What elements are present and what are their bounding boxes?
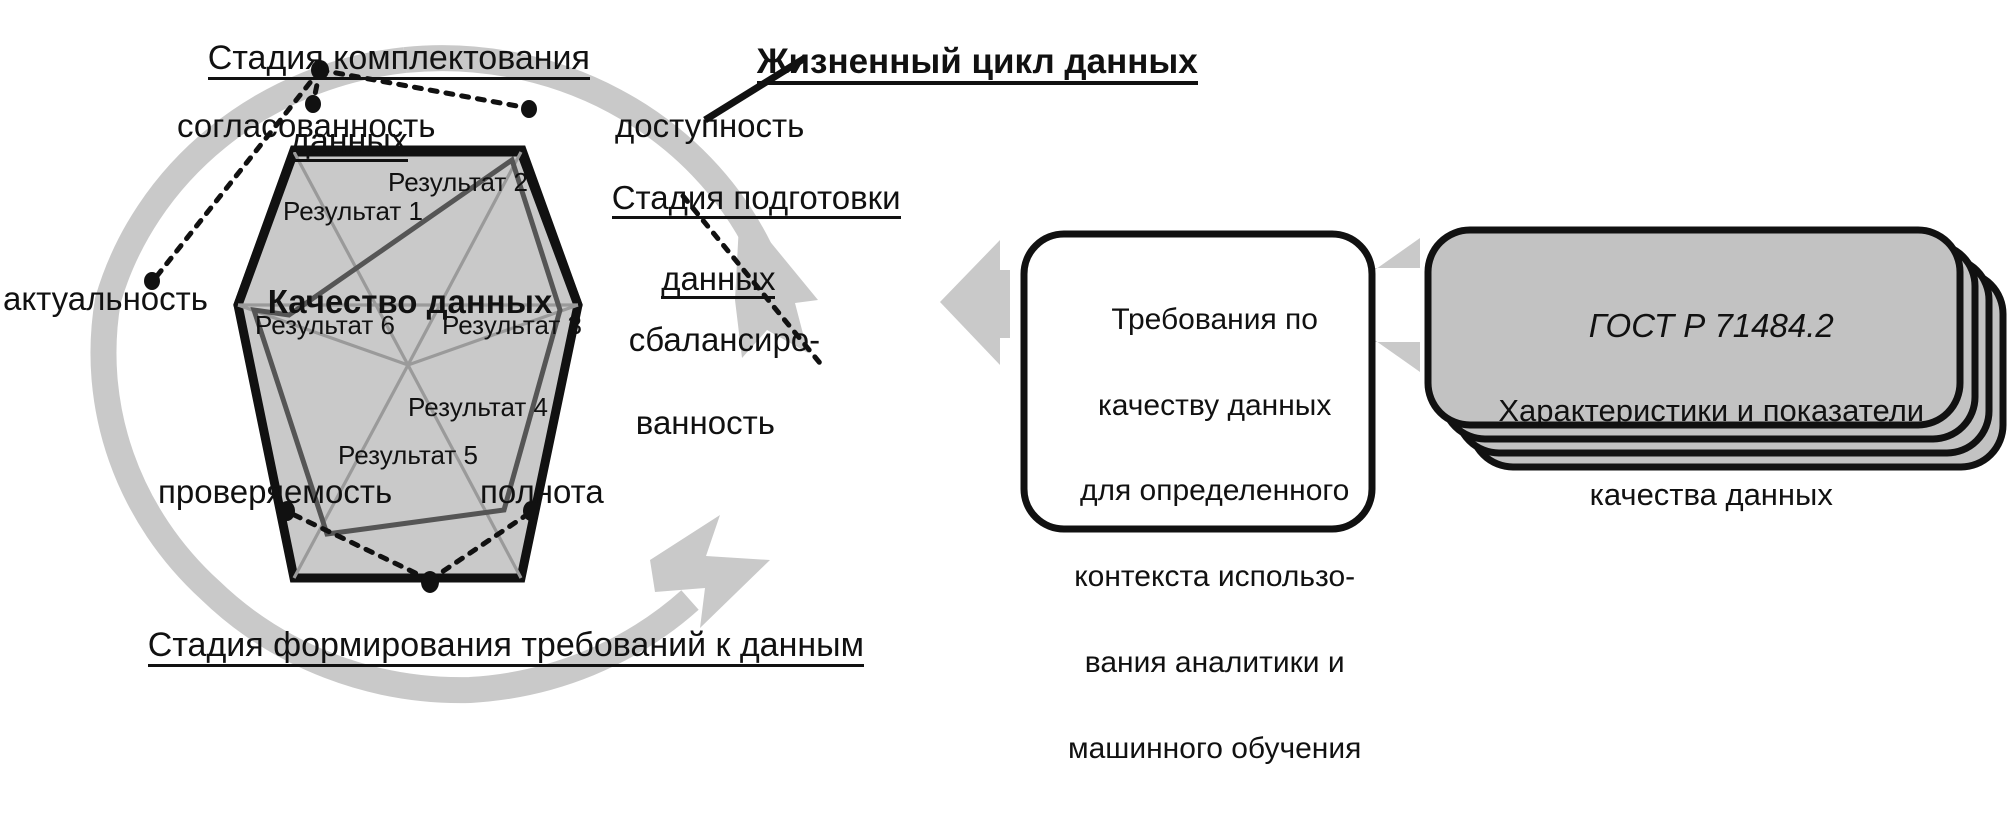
result-3-label: Результат 3 (442, 310, 582, 341)
standard-box-text: ГОСТ Р 71484.2 Характеристики и показате… (1436, 262, 1952, 558)
arrow-requirements-to-balance-shaft (978, 270, 1010, 338)
attr-consistency: согласованность (177, 107, 436, 145)
result-6-label: Результат 6 (255, 310, 395, 341)
stage-acquisition-line1: Стадия комплектования (208, 40, 590, 80)
attr-balance: сбалансиро- ванность (592, 278, 782, 484)
diagram-canvas: Стадия комплектования данных Жизненный ц… (0, 0, 2014, 797)
attr-relevance: актуальность (3, 280, 208, 318)
result-2-label: Результат 2 (388, 167, 528, 198)
requirements-line-4: контекста использо- (1074, 560, 1355, 593)
attr-availability: доступность (615, 107, 804, 145)
standard-code: ГОСТ Р 71484.2 (1589, 307, 1834, 344)
requirements-line-1: Требования по (1111, 303, 1318, 336)
diagram-title-text: Жизненный цикл данных (757, 43, 1198, 85)
requirements-line-2: качеству данных (1098, 389, 1331, 422)
node-availability (521, 100, 537, 118)
requirements-box-text: Требования по качеству данных для опреде… (1029, 256, 1367, 814)
standard-line-1: Характеристики и показатели (1498, 393, 1924, 428)
requirements-line-3: для определенного (1080, 474, 1349, 507)
attr-completeness: полнота (480, 473, 604, 511)
stage-requirements-line1: Стадия формирования требований к данным (148, 627, 864, 667)
requirements-line-5: вания аналитики и (1085, 646, 1345, 679)
result-1-label: Результат 1 (283, 196, 423, 227)
attr-verifiability: проверяемость (158, 473, 392, 511)
attr-balance-line1: сбалансиро- (629, 321, 820, 358)
result-4-label: Результат 4 (408, 392, 548, 423)
stage-preparation-line1: Стадия подготовки (612, 180, 901, 219)
stage-requirements: Стадия формирования требований к данным (110, 587, 864, 706)
result-5-label: Результат 5 (338, 440, 478, 471)
attr-balance-line2: ванность (636, 404, 775, 441)
requirements-line-6: машинного обучения (1068, 732, 1361, 765)
standard-line-2: качества данных (1590, 477, 1833, 512)
